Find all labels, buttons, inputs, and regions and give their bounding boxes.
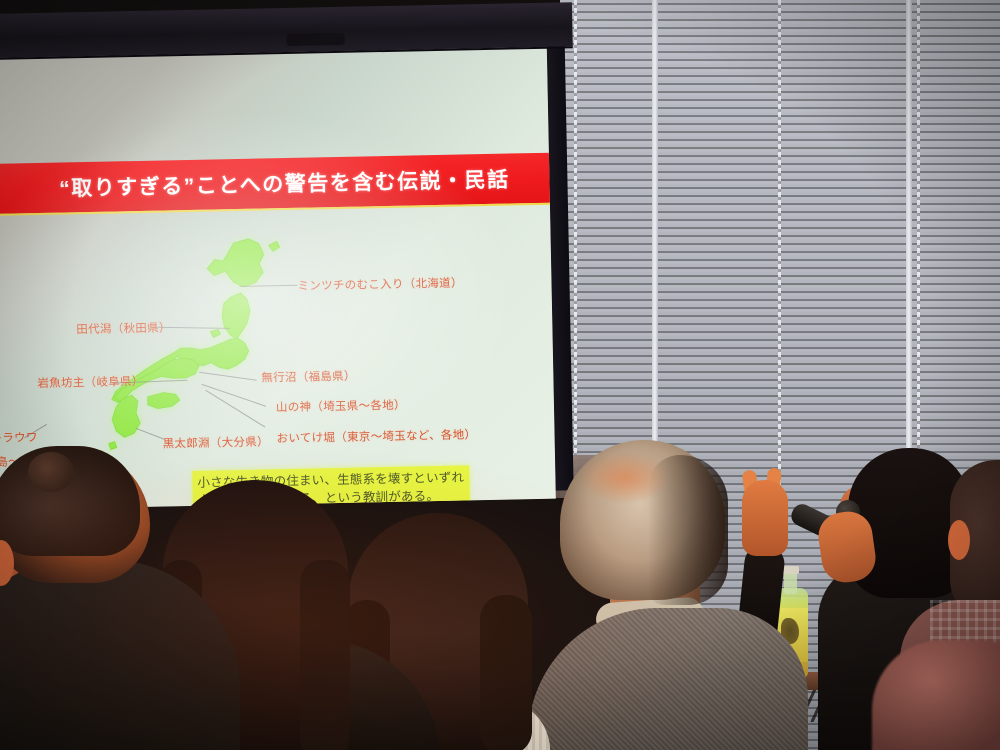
- screen-surface: “取りすぎる”ことへの警告を含む伝説・民話: [0, 47, 556, 510]
- projection-screen: “取りすぎる”ことへの警告を含む伝説・民話: [0, 2, 582, 514]
- map-label-okinawa-1: キラウワ: [0, 429, 38, 446]
- audience-member-4-light-highlight: [580, 452, 670, 504]
- audience-member-6-ear: [948, 520, 970, 560]
- speaker-raised-hand: [742, 480, 788, 556]
- audience-member-1-hair-bun: [28, 452, 74, 492]
- slide-title: “取りすぎる”ことへの警告を含む伝説・民話: [59, 164, 510, 203]
- screen-top-knob: [286, 33, 344, 46]
- audience-member-3-hair-right: [480, 595, 532, 750]
- tea-bottle-cap: [782, 566, 799, 574]
- slide: “取りすぎる”ことへの警告を含む伝説・民話: [0, 47, 556, 510]
- map-label-hokkaido: ミンツチのむこ入り（北海道）: [297, 274, 462, 293]
- map-label-oita: 黒太郎淵（大分県）: [162, 433, 269, 451]
- map-label-fukushima: 無行沼（福島県）: [261, 368, 356, 386]
- audience-member-2-hair-right: [300, 560, 350, 750]
- slide-title-band: “取りすぎる”ことへの警告を含む伝説・民話: [0, 152, 556, 216]
- map-label-tokyo: おいてけ堀（東京〜埼玉など、各地）: [276, 426, 476, 446]
- presentation-photo-scene: “取りすぎる”ことへの警告を含む伝説・民話: [0, 0, 1000, 750]
- map-label-saitama: 山の神（埼玉県〜各地）: [276, 397, 406, 416]
- map-label-akita: 田代潟（秋田県）: [76, 319, 171, 337]
- map-label-gifu: 岩魚坊主（岐阜県）: [37, 373, 144, 391]
